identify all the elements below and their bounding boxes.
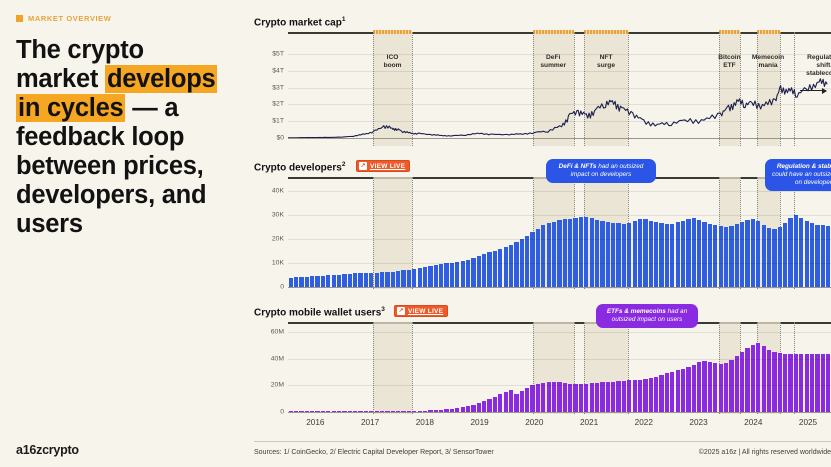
bar xyxy=(332,275,336,287)
bar xyxy=(745,220,749,287)
bar xyxy=(783,354,787,412)
gridline xyxy=(288,239,831,240)
bar xyxy=(477,403,481,412)
y-tick-label: 40K xyxy=(250,188,284,195)
chart-1-title: Crypto market cap1 xyxy=(254,16,345,28)
gridline xyxy=(288,332,831,333)
bar xyxy=(573,384,577,412)
bar xyxy=(756,221,760,287)
bar xyxy=(740,352,744,412)
y-tick-label: $5T xyxy=(250,51,284,58)
footer-copyright: ©2025 a16z | All rights reserved worldwi… xyxy=(699,449,831,456)
bar xyxy=(665,224,669,287)
callout-etfs-memecoins: ETFs & memecoins had an outsized impact … xyxy=(596,304,698,328)
bar xyxy=(778,227,782,287)
headline-line-6: developers, and xyxy=(16,181,206,209)
bar xyxy=(622,224,626,287)
bar xyxy=(686,219,690,287)
bar xyxy=(305,277,309,287)
callout-regulation: Regulation & stablecoins could have an o… xyxy=(765,159,831,191)
headline-line-4: feedback loop xyxy=(16,123,184,151)
bar xyxy=(649,221,653,287)
view-live-button-developers[interactable]: ↗ VIEW LIVE xyxy=(356,160,410,172)
bar xyxy=(659,223,663,287)
bar xyxy=(337,275,341,287)
bar xyxy=(428,266,432,287)
bar xyxy=(461,261,465,287)
bar xyxy=(681,369,685,412)
bar xyxy=(482,254,486,287)
bar xyxy=(600,382,604,412)
bar xyxy=(380,272,384,287)
bar xyxy=(606,382,610,412)
bar xyxy=(579,217,583,287)
bar xyxy=(530,385,534,412)
bar xyxy=(509,245,513,287)
bar xyxy=(401,270,405,287)
bar xyxy=(821,225,825,287)
x-tick-label: 2018 xyxy=(416,418,434,427)
chart-crypto-developers: Crypto developers2 ↗ VIEW LIVE DeFi & NF… xyxy=(250,161,831,289)
bar xyxy=(794,215,798,287)
bar xyxy=(547,382,551,412)
bar xyxy=(611,382,615,412)
bar xyxy=(676,370,680,412)
y-tick-label: $1T xyxy=(250,118,284,125)
bar xyxy=(724,363,728,412)
y-tick-label: 0 xyxy=(250,409,284,416)
bar xyxy=(670,224,674,287)
bar xyxy=(504,247,508,287)
bar xyxy=(547,223,551,287)
bar xyxy=(493,397,497,412)
bar xyxy=(729,226,733,287)
chart-crypto-mobile-wallet-users: Crypto mobile wallet users3 ↗ VIEW LIVE … xyxy=(250,306,831,431)
bar xyxy=(659,375,663,412)
bar xyxy=(815,225,819,287)
bar xyxy=(579,384,583,412)
callout-defi-nfts: DeFi & NFTs had an outsized impact on de… xyxy=(546,159,656,183)
bar xyxy=(541,225,545,287)
bar xyxy=(557,220,561,287)
bar xyxy=(713,225,717,287)
trend-arrow-icon xyxy=(800,90,826,91)
arrow-up-right-icon: ↗ xyxy=(397,307,405,315)
headline-line-3b: — a xyxy=(125,94,178,122)
bar xyxy=(654,377,658,412)
bar xyxy=(821,354,825,412)
bar xyxy=(762,225,766,287)
bar xyxy=(810,223,814,287)
era-label-5: Regulatoryshift,stablecoins xyxy=(790,54,831,78)
bar xyxy=(643,219,647,287)
bar xyxy=(321,276,325,287)
bar xyxy=(563,383,567,412)
bar xyxy=(735,356,739,412)
charts-panel: Crypto market cap1 ICOboomDeFisummerNFTs… xyxy=(250,0,831,467)
bar xyxy=(735,224,739,287)
bar xyxy=(788,218,792,287)
bar xyxy=(692,218,696,287)
bar xyxy=(740,222,744,287)
y-tick-label: 20M xyxy=(250,382,284,389)
x-tick-label: 2017 xyxy=(361,418,379,427)
era-label-0: ICOboom xyxy=(359,54,427,70)
bar xyxy=(590,383,594,412)
bar xyxy=(493,251,497,287)
bar xyxy=(692,365,696,413)
x-tick-label: 2019 xyxy=(470,418,488,427)
bar xyxy=(557,382,561,412)
bar xyxy=(525,388,529,412)
bar xyxy=(702,222,706,287)
bar xyxy=(756,343,760,412)
x-tick-label: 2021 xyxy=(580,418,598,427)
bar xyxy=(681,221,685,287)
bar xyxy=(552,222,556,287)
a16z-crypto-logo: a16zcrypto xyxy=(16,443,79,457)
bar xyxy=(358,273,362,287)
bar xyxy=(590,218,594,287)
bar xyxy=(434,265,438,287)
bar xyxy=(762,346,766,412)
bar xyxy=(423,267,427,287)
bar xyxy=(353,273,357,287)
bar xyxy=(498,394,502,412)
bar xyxy=(299,277,303,287)
bar xyxy=(815,354,819,412)
bar xyxy=(568,384,572,412)
bar xyxy=(805,221,809,287)
chart-3-plot: ETFs & memecoins had an outsized impact … xyxy=(288,322,831,414)
chart-1-plot: ICOboomDeFisummerNFTsurgeBitcoinETFMemec… xyxy=(288,32,831,146)
bar xyxy=(772,229,776,287)
bar xyxy=(724,227,728,287)
bar xyxy=(708,224,712,287)
bar xyxy=(826,354,830,412)
bar xyxy=(794,354,798,412)
y-tick-label: 30K xyxy=(250,212,284,219)
era-label-2: NFTsurge xyxy=(572,54,640,70)
bar xyxy=(407,270,411,287)
chart-2-plot: DeFi & NFTs had an outsized impact on de… xyxy=(288,177,831,289)
x-tick-label: 2025 xyxy=(799,418,817,427)
bar xyxy=(498,249,502,287)
bar xyxy=(708,362,712,412)
bar xyxy=(364,273,368,287)
bar xyxy=(616,223,620,287)
bar xyxy=(600,221,604,287)
bar xyxy=(487,252,491,287)
x-tick-label: 2023 xyxy=(689,418,707,427)
bar xyxy=(520,391,524,412)
bar xyxy=(289,278,293,287)
bar xyxy=(418,268,422,287)
bar xyxy=(751,219,755,288)
bar xyxy=(348,274,352,287)
bar xyxy=(670,372,674,412)
gridline xyxy=(288,71,831,72)
slide-root: MARKET OVERVIEW The crypto market develo… xyxy=(0,0,831,467)
y-tick-label: $3T xyxy=(250,84,284,91)
bar xyxy=(719,226,723,287)
bar xyxy=(697,362,701,412)
gridline xyxy=(288,104,831,105)
bar xyxy=(799,354,803,412)
y-tick-label: 20K xyxy=(250,236,284,243)
bar xyxy=(504,392,508,412)
page-title: The crypto market develops in cycles — a… xyxy=(16,36,228,239)
bar xyxy=(525,236,529,287)
headline-highlight-1: develops xyxy=(105,65,218,93)
bar xyxy=(654,222,658,287)
gridline xyxy=(288,54,831,55)
eyebrow-label: MARKET OVERVIEW xyxy=(28,14,111,23)
view-live-button-wallets[interactable]: ↗ VIEW LIVE xyxy=(394,305,448,317)
bar xyxy=(772,352,776,412)
bar xyxy=(439,264,443,287)
bar xyxy=(649,378,653,412)
bar xyxy=(375,273,379,287)
bar xyxy=(676,222,680,287)
eyebrow-square-icon xyxy=(16,15,23,22)
eyebrow-badge: MARKET OVERVIEW xyxy=(16,14,111,23)
y-tick-label: $0 xyxy=(250,135,284,142)
gridline xyxy=(288,263,831,264)
bar xyxy=(826,226,830,287)
bar xyxy=(514,394,518,412)
x-tick-label: 2016 xyxy=(306,418,324,427)
bar xyxy=(686,367,690,412)
bar xyxy=(665,373,669,412)
gridline xyxy=(288,191,831,192)
market-cap-line xyxy=(288,32,831,146)
footer-divider xyxy=(254,441,831,442)
bar xyxy=(595,220,599,287)
bar xyxy=(455,262,459,287)
bar xyxy=(369,273,373,287)
bar xyxy=(751,345,755,412)
crypto-mobile-wallet-users-bars xyxy=(288,332,831,412)
left-panel: MARKET OVERVIEW The crypto market develo… xyxy=(0,0,236,467)
y-tick-label: 10K xyxy=(250,260,284,267)
chart-3-title: Crypto mobile wallet users3 xyxy=(254,306,385,318)
bar xyxy=(638,219,642,287)
bar xyxy=(643,379,647,412)
bar xyxy=(444,263,448,287)
bar xyxy=(477,256,481,287)
bar xyxy=(719,364,723,412)
bar xyxy=(471,405,475,413)
bar xyxy=(573,218,577,287)
bar xyxy=(633,221,637,287)
bar xyxy=(568,219,572,287)
y-tick-label: 40M xyxy=(250,355,284,362)
bar xyxy=(487,399,491,412)
bar xyxy=(584,384,588,412)
bar xyxy=(396,271,400,287)
bar xyxy=(595,383,599,412)
gridline xyxy=(288,121,831,122)
gridline xyxy=(288,215,831,216)
x-axis: 2016201720182019202020212022202320242025 xyxy=(288,418,831,432)
bar xyxy=(326,275,330,287)
x-tick-label: 2024 xyxy=(744,418,762,427)
gridline xyxy=(288,88,831,89)
bar xyxy=(805,354,809,412)
x-tick-label: 2020 xyxy=(525,418,543,427)
view-live-label: VIEW LIVE xyxy=(370,163,405,170)
bar xyxy=(294,277,298,287)
bar xyxy=(412,269,416,287)
view-live-label: VIEW LIVE xyxy=(408,308,443,315)
bar xyxy=(713,363,717,412)
bar xyxy=(536,384,540,412)
zero-baseline xyxy=(288,287,831,288)
bar xyxy=(450,263,454,287)
bar xyxy=(767,228,771,287)
bar xyxy=(315,276,319,287)
gridline xyxy=(288,359,831,360)
bar xyxy=(783,223,787,287)
bar xyxy=(541,383,545,412)
bar xyxy=(778,353,782,412)
headline-line-5: between prices, xyxy=(16,152,204,180)
headline-line-7: users xyxy=(16,210,83,238)
bar xyxy=(536,229,540,287)
bar xyxy=(391,272,395,287)
bar xyxy=(606,222,610,287)
bar xyxy=(627,223,631,287)
bar xyxy=(611,223,615,287)
bar xyxy=(563,219,567,287)
bar xyxy=(509,390,513,412)
x-tick-label: 2022 xyxy=(635,418,653,427)
chart-crypto-market-cap: Crypto market cap1 ICOboomDeFisummerNFTs… xyxy=(250,16,831,146)
y-tick-label: $2T xyxy=(250,101,284,108)
bar xyxy=(482,401,486,412)
headline-line-1: The crypto xyxy=(16,36,144,64)
bar xyxy=(310,276,314,287)
footer-sources: Sources: 1/ CoinGecko, 2/ Electric Capit… xyxy=(254,449,494,456)
bar xyxy=(788,354,792,412)
bar xyxy=(385,272,389,287)
y-tick-label: 0 xyxy=(250,284,284,291)
headline-highlight-2: in cycles xyxy=(16,94,125,122)
bar xyxy=(810,354,814,412)
y-tick-label: $4T xyxy=(250,67,284,74)
headline-line-2a: market xyxy=(16,65,105,93)
bar xyxy=(697,220,701,287)
bar xyxy=(584,217,588,287)
y-tick-label: 60M xyxy=(250,329,284,336)
zero-baseline xyxy=(288,412,831,413)
gridline xyxy=(288,385,831,386)
arrow-up-right-icon: ↗ xyxy=(359,162,367,170)
bar xyxy=(342,274,346,287)
bar xyxy=(530,232,534,287)
bar xyxy=(799,218,803,287)
chart-2-title: Crypto developers2 xyxy=(254,161,345,173)
zero-baseline xyxy=(288,138,831,139)
bar xyxy=(514,242,518,287)
